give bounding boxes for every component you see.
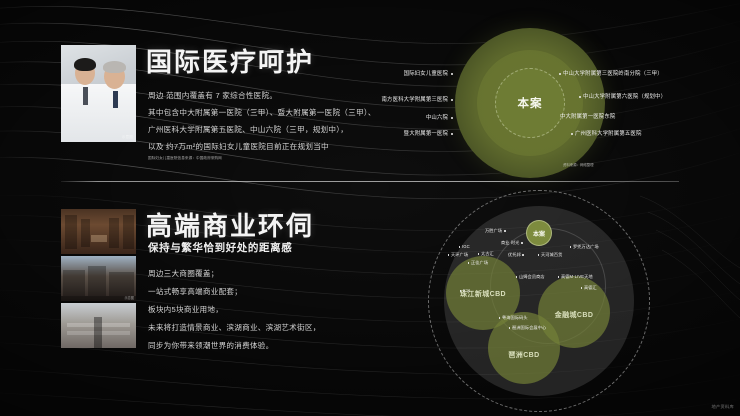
poi-youtuobang: 优托邦 — [508, 252, 526, 258]
poi-teemall-department-store: 天河城百货 — [536, 252, 562, 258]
poi-wansheng-plaza: 万胜广场 — [485, 228, 507, 234]
doctors-photo: 示意图 — [61, 45, 136, 142]
diagram-center-label: 本案 — [495, 68, 565, 138]
poi-grandview-mall: 正佳广场 — [466, 260, 488, 266]
node-dot-icon — [538, 254, 540, 256]
cbd-center-marker: 本案 — [526, 220, 552, 246]
hospital-node-gzyike-5: 广州医科大学附属第五医院 — [568, 129, 642, 137]
medical-body-line-4: 以及 约7万m²的国际妇女儿童医院目前正在规划当中 — [148, 141, 329, 152]
hospital-node-zhongda-6: 中山大学附属第六医院（规划中） — [576, 92, 666, 100]
hospital-node-nanfang-3: 南方医科大学附属第三医院 — [320, 95, 455, 103]
diagram-credit-top: 资料来源：网络整理 — [563, 162, 594, 167]
medical-footnote: 国际妇女儿童医院信息来源：中国政府采购网 — [148, 156, 222, 161]
hospital-node-guoji-funv: 国际妇女儿童医院 — [340, 69, 455, 77]
section-international-medical: 示意图 国际医疗呵护 周边 范围内覆盖有 7 家综合性医院。 其中包含中大附属第… — [0, 0, 740, 180]
commercial-subtitle: 保持与繁华恰到好处的距离感 — [148, 240, 292, 255]
node-dot-icon — [460, 290, 462, 292]
node-dot-icon — [558, 276, 560, 278]
node-dot-icon — [522, 254, 524, 256]
node-dot-icon — [581, 287, 583, 289]
node-dot-icon — [451, 99, 453, 101]
commercial-cbd-diagram: 珠江新城CBD 金融城CBD 琶洲CBD 本案 万胜广场 商业 时光 罗兜万达广… — [428, 190, 650, 412]
poi-shangye-shiguang: 商业 时光 — [501, 240, 524, 246]
node-dot-icon — [504, 230, 506, 232]
hospital-radius-diagram: 本案 — [455, 28, 605, 178]
photo-shape-coats — [61, 84, 136, 142]
thumbnail-retail-street — [61, 209, 136, 254]
node-dot-icon — [521, 242, 523, 244]
poi-tianhuan-plaza: 天环广场 — [446, 252, 468, 258]
commercial-body-line-3: 板块内5块商业用地， — [148, 304, 223, 315]
node-dot-icon — [499, 317, 501, 319]
node-dot-icon — [451, 117, 453, 119]
section-commercial-surround: 示意图 高端商业环伺 保持与繁华恰到好处的距离感 周边三大商圈覆盖； 一站式畅享… — [0, 182, 740, 416]
poi-luogang-wanda-plaza: 罗兜万达广场 — [568, 244, 599, 250]
node-dot-icon — [468, 262, 470, 264]
poi-gaode-hui: 高德汇 — [579, 285, 597, 291]
node-dot-icon — [509, 327, 511, 329]
poi-pazhou-expo-center: 琶洲国际会展中心 — [507, 325, 546, 331]
photo-credit: 示意图 — [122, 135, 133, 140]
node-dot-icon — [579, 96, 581, 98]
node-dot-icon — [478, 253, 480, 255]
hospital-node-zhongda-3-lingnan: 中山大学附属第三医院岭南分院（三甲） — [556, 69, 663, 77]
slide-content: 示意图 国际医疗呵护 周边 范围内覆盖有 7 家综合性医院。 其中包含中大附属第… — [0, 0, 740, 416]
commercial-body-line-4: 未来将打造情景商业、滨湖商业、滨湖艺术街区， — [148, 322, 321, 333]
node-dot-icon — [516, 276, 518, 278]
cbd-cluster-pazhou: 琶洲CBD — [488, 312, 560, 384]
page-title-commercial: 高端商业环伺 — [146, 206, 314, 243]
commercial-body-line-5: 同步为你带来领潮世界的消费体验。 — [148, 340, 274, 351]
medical-body-line-1: 周边 范围内覆盖有 7 家综合性医院。 — [148, 90, 277, 101]
page-title-medical: 国际医疗呵护 — [146, 42, 314, 79]
node-dot-icon — [451, 133, 453, 135]
hospital-node-jinan-1: 暨大附属第一医院 — [330, 129, 455, 137]
poi-gaode-mlive: 高德M·LIVE天地 — [556, 274, 593, 280]
photo-shape-tie-left — [83, 87, 88, 105]
poi-taikoo-hui: 太古汇 — [476, 251, 494, 257]
thumbnail-credit: 示意图 — [124, 295, 134, 300]
poi-yuehai-pier: 粤海国际码头 — [497, 315, 528, 321]
cbd-label-pazhou: 琶洲CBD — [508, 350, 539, 360]
commercial-body-line-1: 周边三大商圈覆盖； — [148, 268, 219, 279]
commercial-thumbnail-stack: 示意图 — [61, 209, 136, 349]
node-dot-icon — [451, 73, 453, 75]
poi-sams-club: 山姆会员商店 — [514, 274, 545, 280]
thumbnail-mall-atrium — [61, 303, 136, 348]
node-dot-icon — [459, 246, 461, 248]
photo-shape-hair-left — [74, 58, 96, 71]
medical-body-line-3: 广州医科大学附属第五医院、中山六院（三甲，规划中）， — [148, 124, 348, 135]
poi-k11: K11 — [458, 288, 470, 293]
hospital-node-zhongda-1-east: 中大附属第一医院东院 — [560, 112, 615, 120]
node-dot-icon — [570, 246, 572, 248]
page-watermark: 地产资料库 — [712, 404, 734, 410]
commercial-body-line-2: 一站式畅享高端商业配套； — [148, 286, 242, 297]
photo-shape-tie-right — [113, 91, 118, 108]
hospital-node-zhongshan-6: 中山六院 — [340, 113, 455, 121]
thumbnail-street-block: 示意图 — [61, 256, 136, 301]
node-dot-icon — [559, 73, 561, 75]
cbd-label-jinrong: 金融城CBD — [555, 310, 594, 320]
photo-shape-hair-right — [103, 61, 126, 73]
node-dot-icon — [448, 254, 450, 256]
node-dot-icon — [571, 133, 573, 135]
poi-igc: IGC — [457, 244, 470, 249]
